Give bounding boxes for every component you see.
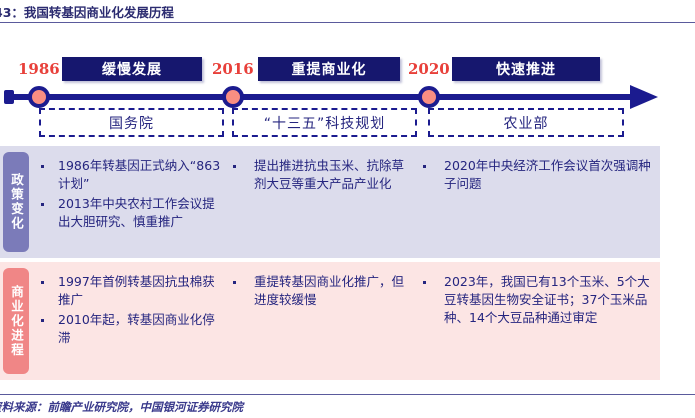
- timeline-axis-line: [8, 94, 638, 100]
- timeline-actor-state-council: 国务院: [39, 108, 224, 137]
- bullet-list: 2023年，我国已有13个玉米、5个大豆转基因生物安全证书；37个玉米品种、14…: [416, 273, 660, 329]
- list-item: 2010年起，转基因商业化停滞: [34, 311, 226, 347]
- timeline-actor-13th-five-year-plan: “十三五”科技规划: [232, 108, 417, 137]
- bullet-list: 1997年首例转基因抗虫棉获推广 2010年起，转基因商业化停滞: [34, 273, 226, 350]
- timeline-year-2020: 2020: [408, 60, 450, 78]
- footer-divider: [0, 394, 695, 395]
- timeline-phase-slow-development: 缓慢发展: [62, 57, 202, 81]
- cell-commercialization-phase3: 2023年，我国已有13个玉米、5个大豆转基因生物安全证书；37个玉米品种、14…: [416, 262, 660, 380]
- footer: 资料来源：前瞻产业研究院，中国银河证券研究院: [0, 394, 695, 418]
- cell-policy-phase3: 2020年中央经济工作会议首次强调种子问题: [416, 146, 660, 258]
- row-policy-change: 政策变化 1986年转基因正式纳入“863计划” 2013年中央农村工作会议提出…: [0, 146, 660, 258]
- page-title: 43：我国转基因商业化发展历程: [0, 2, 174, 21]
- list-item: 2013年中央农村工作会议提出大胆研究、慎重推广: [34, 195, 226, 231]
- list-item: 提出推进抗虫玉米、抗除草剂大豆等重大产品产业化: [226, 157, 416, 193]
- list-item: 1986年转基因正式纳入“863计划”: [34, 157, 226, 193]
- timeline-node-1986: [28, 86, 50, 108]
- cell-commercialization-phase2: 重提转基因商业化推广，但进度较缓慢: [226, 262, 416, 380]
- title-bar: 43：我国转基因商业化发展历程: [0, 0, 695, 26]
- timeline-node-2016: [222, 86, 244, 108]
- timeline-phase-recommercialization: 重提商业化: [258, 57, 400, 81]
- bullet-list: 提出推进抗虫玉米、抗除草剂大豆等重大产品产业化: [226, 157, 416, 195]
- cell-policy-phase2: 提出推进抗虫玉米、抗除草剂大豆等重大产品产业化: [226, 146, 416, 258]
- timeline-actor-ministry-of-agriculture: 农业部: [428, 108, 624, 137]
- timeline-phase-rapid-advance: 快速推进: [452, 57, 600, 81]
- timeline-node-2020: [418, 86, 440, 108]
- timeline-year-2016: 2016: [212, 60, 254, 78]
- timeline-year-1986: 1986: [18, 60, 60, 78]
- cell-policy-phase1: 1986年转基因正式纳入“863计划” 2013年中央农村工作会议提出大胆研究、…: [34, 146, 226, 258]
- list-item: 1997年首例转基因抗虫棉获推广: [34, 273, 226, 309]
- footer-source: 资料来源：前瞻产业研究院，中国银河证券研究院: [0, 399, 243, 415]
- timeline-arrow-icon: [630, 85, 658, 109]
- bullet-list: 2020年中央经济工作会议首次强调种子问题: [416, 157, 660, 195]
- content-rows: 政策变化 1986年转基因正式纳入“863计划” 2013年中央农村工作会议提出…: [0, 146, 695, 384]
- row-tab-policy-change: 政策变化: [3, 152, 29, 252]
- timeline: 1986 2016 2020 缓慢发展 重提商业化 快速推进 国务院 “十三五”…: [0, 52, 695, 144]
- list-item: 2020年中央经济工作会议首次强调种子问题: [416, 157, 660, 193]
- row-commercialization-cells: 1997年首例转基因抗虫棉获推广 2010年起，转基因商业化停滞 重提转基因商业…: [0, 262, 660, 380]
- title-divider: [0, 22, 695, 23]
- bullet-list: 重提转基因商业化推广，但进度较缓慢: [226, 273, 416, 311]
- list-item: 重提转基因商业化推广，但进度较缓慢: [226, 273, 416, 309]
- bullet-list: 1986年转基因正式纳入“863计划” 2013年中央农村工作会议提出大胆研究、…: [34, 157, 226, 234]
- list-item: 2023年，我国已有13个玉米、5个大豆转基因生物安全证书；37个玉米品种、14…: [416, 273, 660, 327]
- cell-commercialization-phase1: 1997年首例转基因抗虫棉获推广 2010年起，转基因商业化停滞: [34, 262, 226, 380]
- row-policy-cells: 1986年转基因正式纳入“863计划” 2013年中央农村工作会议提出大胆研究、…: [0, 146, 660, 258]
- row-commercialization-progress: 商业化进程 1997年首例转基因抗虫棉获推广 2010年起，转基因商业化停滞 重…: [0, 262, 660, 380]
- row-tab-commercialization-progress: 商业化进程: [3, 268, 29, 374]
